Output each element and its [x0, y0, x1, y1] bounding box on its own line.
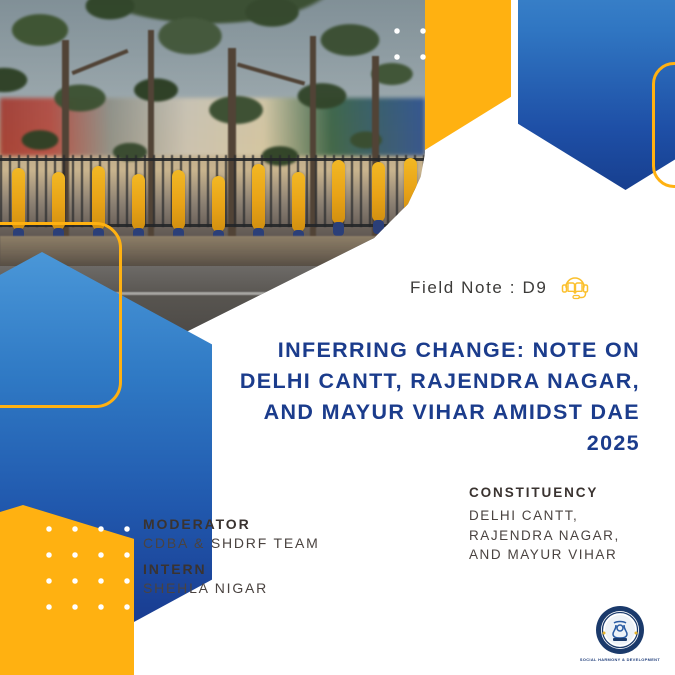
page-title: INFERRING CHANGE: NOTE ON DELHI CANTT, R… — [228, 335, 640, 459]
constituency-block: CONSTITUENCY DELHI CANTT, RAJENDRA NAGAR… — [469, 485, 669, 565]
photo-garland-tip — [373, 220, 384, 234]
photo-garland-tip — [333, 222, 344, 236]
intern-name: SHEHLA NIGAR — [143, 580, 383, 596]
yellow-outline-hexagon-right — [652, 62, 675, 188]
poster-canvas: Field Note : D9 INFERRING CHANGE: NOTE O… — [0, 0, 675, 675]
yellow-banner-shape — [425, 0, 511, 150]
photo-garland — [212, 176, 225, 232]
photo-garland — [252, 164, 265, 230]
field-note-label: Field Note : D9 — [410, 278, 547, 298]
photo-garland — [332, 160, 345, 224]
constituency-line-1: DELHI CANTT, — [469, 506, 669, 526]
organisation-logo: SOCIAL HARMONY & DEVELOPMENT — [572, 605, 668, 667]
moderator-name: CDBA & SHDRF TEAM — [143, 535, 383, 551]
audiobook-icon — [559, 272, 591, 304]
constituency-heading: CONSTITUENCY — [469, 485, 669, 500]
photo-railing-bar — [0, 158, 425, 161]
dot-grid-top — [380, 14, 436, 74]
yellow-outline-hexagon-left — [0, 222, 122, 408]
photo-garland — [404, 158, 417, 216]
photo-garland — [292, 172, 305, 232]
intern-label: INTERN — [143, 561, 383, 577]
credits-block: MODERATOR CDBA & SHDRF TEAM INTERN SHEHL… — [143, 516, 383, 596]
photo-garland — [132, 174, 145, 230]
photo-garland — [12, 168, 25, 230]
organisation-seal-icon — [595, 605, 645, 655]
constituency-line-2: RAJENDRA NAGAR, — [469, 526, 669, 546]
constituency-line-3: AND MAYUR VIHAR — [469, 545, 669, 565]
field-note-row: Field Note : D9 — [410, 272, 591, 304]
constituency-values: DELHI CANTT, RAJENDRA NAGAR, AND MAYUR V… — [469, 506, 669, 565]
photo-garland — [172, 170, 185, 230]
dot-grid-bottom-left — [32, 512, 148, 628]
moderator-label: MODERATOR — [143, 516, 383, 532]
organisation-logo-caption: SOCIAL HARMONY & DEVELOPMENT — [580, 657, 660, 662]
photo-garland — [372, 162, 385, 222]
credits-spacer — [143, 551, 383, 561]
photo-garland — [92, 166, 105, 230]
